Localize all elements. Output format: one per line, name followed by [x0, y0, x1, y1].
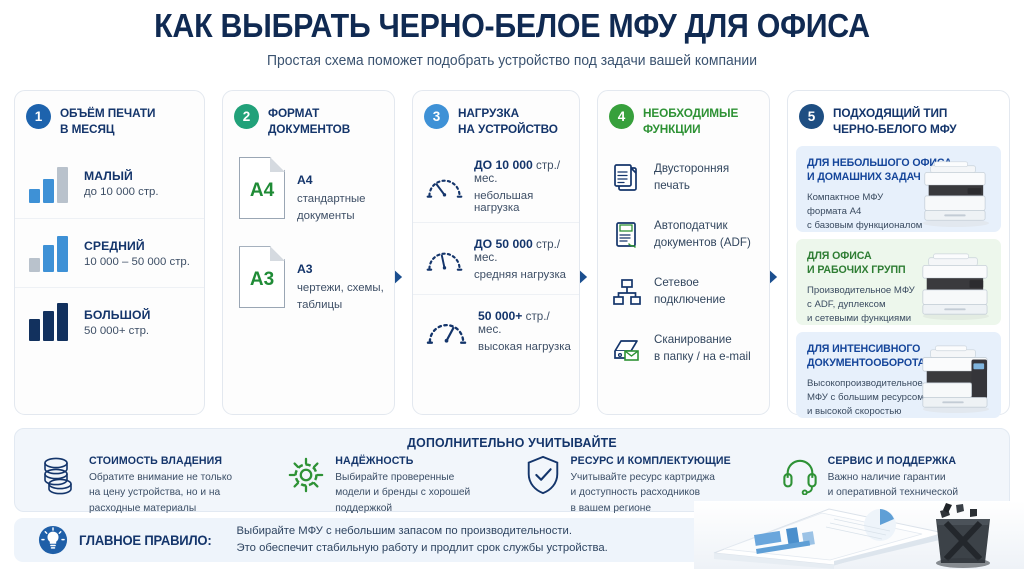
function-network-line2: подключение [654, 292, 725, 309]
bar-chart-small [29, 165, 71, 203]
function-adf-line1: Автоподатчик [654, 218, 751, 235]
document-a3-icon: A3 [239, 246, 285, 308]
coins-stack-icon [41, 455, 79, 495]
volume-name-small: МАЛЫЙ [84, 169, 159, 183]
shield-check-icon [525, 455, 561, 495]
adf-feeder-icon [611, 219, 643, 251]
additional-considerations-title: ДОПОЛНИТЕЛЬНО УЧИТЫВАЙТЕ [40, 435, 984, 450]
step-card-3: 3 НАГРУЗКА НА УСТРОЙСТВО ДО 10 000 стр./… [412, 90, 580, 415]
load-sub-high: высокая нагрузка [478, 341, 571, 353]
step-3-title-line1: НАГРУЗКА [458, 106, 558, 122]
product-card-workgroup: ДЛЯ ОФИСА И РАБОЧИХ ГРУПП Производительн… [796, 239, 1001, 325]
page-subtitle: Простая схема поможет подобрать устройст… [20, 53, 1003, 69]
step-5-title-line1: ПОДХОДЯЩИЙ ТИП [833, 106, 956, 122]
bar-chart-medium [29, 234, 71, 272]
step-card-4: 4 НЕОБХОДИМЫЕ ФУНКЦИИ Двусторонняя [597, 90, 770, 415]
function-scan-line1: Сканирование [654, 332, 751, 349]
function-row-adf: Автоподатчик документов (ADF) [598, 206, 769, 263]
step-5-header: 5 ПОДХОДЯЩИЙ ТИП ЧЕРНО-БЕЛОГО МФУ [788, 91, 1009, 137]
step-card-5: 5 ПОДХОДЯЩИЙ ТИП ЧЕРНО-БЕЛОГО МФУ ДЛЯ НЕ… [787, 90, 1010, 415]
consideration-cost-of-ownership: СТОИМОСТЬ ВЛАДЕНИЯ Обратите внимание не … [25, 455, 277, 516]
step-3-header: 3 НАГРУЗКА НА УСТРОЙСТВО [413, 91, 579, 137]
steps-row: 1 ОБЪЁМ ПЕЧАТИ В МЕСЯЦ МАЛЫЙ до 10 000 с… [0, 90, 1024, 420]
volume-name-medium: СРЕДНИЙ [84, 239, 190, 253]
step-card-2: 2 ФОРМАТ ДОКУМЕНТОВ A4 A4 стандартные до… [222, 90, 395, 415]
printer-photo-compact [909, 156, 997, 228]
document-a3-icon-label: A3 [239, 246, 285, 308]
consideration-1-name: СТОИМОСТЬ ВЛАДЕНИЯ [89, 455, 232, 467]
load-row-high: 50 000+ стр./мес. высокая нагрузка [413, 294, 579, 366]
step-1-title-line1: ОБЪЁМ ПЕЧАТИ [60, 106, 155, 122]
step-card-1: 1 ОБЪЁМ ПЕЧАТИ В МЕСЯЦ МАЛЫЙ до 10 000 с… [14, 90, 205, 415]
step-2-badge: 2 [234, 104, 259, 129]
load-row-mid: ДО 50 000 стр./мес. средняя нагрузка [413, 222, 579, 294]
step-1-badge: 1 [26, 104, 51, 129]
step-5-title-line2: ЧЕРНО-БЕЛОГО МФУ [833, 122, 956, 138]
function-duplex-line1: Двусторонняя [654, 161, 729, 178]
function-duplex-line2: печать [654, 178, 729, 195]
consideration-reliability: НАДЁЖНОСТЬ Выбирайте проверенные модели … [277, 455, 514, 516]
main-rule-label: ГЛАВНОЕ ПРАВИЛО: [79, 532, 212, 548]
product-card-heavy-duty: ДЛЯ ИНТЕНСИВНОГО ДОКУМЕНТООБОРОТА Высоко… [796, 332, 1001, 418]
step-2-title-line2: ДОКУМЕНТОВ [268, 122, 350, 138]
step-2-title: ФОРМАТ ДОКУМЕНТОВ [268, 104, 350, 137]
load-sub-mid: средняя нагрузка [474, 269, 571, 281]
infographic-page: КАК ВЫБРАТЬ ЧЕРНО-БЕЛОЕ МФУ ДЛЯ ОФИСА Пр… [0, 0, 1024, 569]
step-5-title: ПОДХОДЯЩИЙ ТИП ЧЕРНО-БЕЛОГО МФУ [833, 104, 956, 137]
step-3-badge: 3 [424, 104, 449, 129]
load-value-high: 50 000+ [478, 309, 522, 323]
volume-sub-medium: 10 000 – 50 000 стр. [84, 256, 190, 268]
step-3-title: НАГРУЗКА НА УСТРОЙСТВО [458, 104, 558, 137]
main-rule-line1: Выбирайте МФУ с небольшим запасом по про… [237, 523, 608, 540]
step-5-badge: 5 [799, 104, 824, 129]
step-2-title-line1: ФОРМАТ [268, 106, 350, 122]
format-row-a4: A4 A4 стандартные документы [223, 137, 394, 224]
step-1-title: ОБЪЁМ ПЕЧАТИ В МЕСЯЦ [60, 104, 155, 137]
load-value-low: ДО 10 000 [474, 158, 533, 172]
gauge-high-icon [425, 312, 468, 350]
volume-name-large: БОЛЬШОЙ [84, 308, 150, 322]
volume-row-medium: СРЕДНИЙ 10 000 – 50 000 стр. [15, 218, 204, 287]
scan-to-email-icon [611, 333, 643, 365]
consideration-2-line2: модели и бренды с хорошей [335, 485, 470, 500]
volume-row-small: МАЛЫЙ до 10 000 стр. [15, 149, 204, 218]
format-sub-a4-line2: документы [297, 208, 366, 225]
gear-icon [287, 455, 325, 495]
function-row-duplex: Двусторонняя печать [598, 149, 769, 206]
desk-documents-photo [694, 457, 1024, 569]
function-row-scan: Сканирование в папку / на e-mail [598, 320, 769, 377]
main-rule-line2: Это обеспечит стабильную работу и продли… [237, 540, 608, 557]
format-name-a4: A4 [297, 173, 366, 187]
step-1-header: 1 ОБЪЁМ ПЕЧАТИ В МЕСЯЦ [15, 91, 204, 137]
load-value-mid: ДО 50 000 [474, 237, 533, 251]
step-4-title-line1: НЕОБХОДИМЫЕ [643, 106, 738, 122]
product-card-small-office: ДЛЯ НЕБОЛЬШОГО ОФИСА И ДОМАШНИХ ЗАДАЧ Ко… [796, 146, 1001, 232]
step-3-title-line2: НА УСТРОЙСТВО [458, 122, 558, 138]
step-4-badge: 4 [609, 104, 634, 129]
consideration-1-line2: на цену устройства, но и на [89, 485, 232, 500]
printer-photo-workgroup [909, 249, 997, 321]
consideration-1-line3: расходные материалы [89, 501, 232, 516]
step-4-title: НЕОБХОДИМЫЕ ФУНКЦИИ [643, 104, 738, 137]
volume-sub-large: 50 000+ стр. [84, 325, 150, 337]
consideration-2-line3: поддержкой [335, 501, 470, 516]
format-sub-a3-line1: чертежи, схемы, [297, 280, 384, 297]
gauge-low-icon [425, 167, 464, 205]
document-a4-icon: A4 [239, 157, 285, 219]
function-network-line1: Сетевое [654, 275, 725, 292]
consideration-2-name: НАДЁЖНОСТЬ [335, 455, 470, 467]
function-scan-line2: в папку / на e-mail [654, 349, 751, 366]
bar-chart-large [29, 303, 71, 341]
step-2-header: 2 ФОРМАТ ДОКУМЕНТОВ [223, 91, 394, 137]
step-4-header: 4 НЕОБХОДИМЫЕ ФУНКЦИИ [598, 91, 769, 137]
volume-sub-small: до 10 000 стр. [84, 186, 159, 198]
document-a4-icon-label: A4 [239, 157, 285, 219]
load-row-low: ДО 10 000 стр./мес. небольшая нагрузка [413, 150, 579, 222]
step-4-title-line2: ФУНКЦИИ [643, 122, 738, 138]
printer-photo-heavy-duty [909, 342, 997, 414]
consideration-1-line1: Обратите внимание не только [89, 470, 232, 485]
header: КАК ВЫБРАТЬ ЧЕРНО-БЕЛОЕ МФУ ДЛЯ ОФИСА Пр… [0, 0, 1024, 69]
format-sub-a4-line1: стандартные [297, 191, 366, 208]
function-row-network: Сетевое подключение [598, 263, 769, 320]
page-title: КАК ВЫБРАТЬ ЧЕРНО-БЕЛОЕ МФУ ДЛЯ ОФИСА [41, 8, 983, 44]
lightbulb-icon [38, 525, 68, 555]
volume-row-large: БОЛЬШОЙ 50 000+ стр. [15, 287, 204, 356]
format-sub-a3-line2: таблицы [297, 297, 384, 314]
gauge-mid-icon [425, 240, 464, 278]
format-row-a3: A3 A3 чертежи, схемы, таблицы [223, 224, 394, 313]
consideration-2-line1: Выбирайте проверенные [335, 470, 470, 485]
duplex-print-icon [611, 162, 643, 194]
step-1-title-line2: В МЕСЯЦ [60, 122, 155, 138]
format-name-a3: A3 [297, 262, 384, 276]
network-icon [611, 276, 643, 308]
load-sub-low: небольшая нагрузка [474, 190, 571, 214]
function-adf-line2: документов (ADF) [654, 235, 751, 252]
